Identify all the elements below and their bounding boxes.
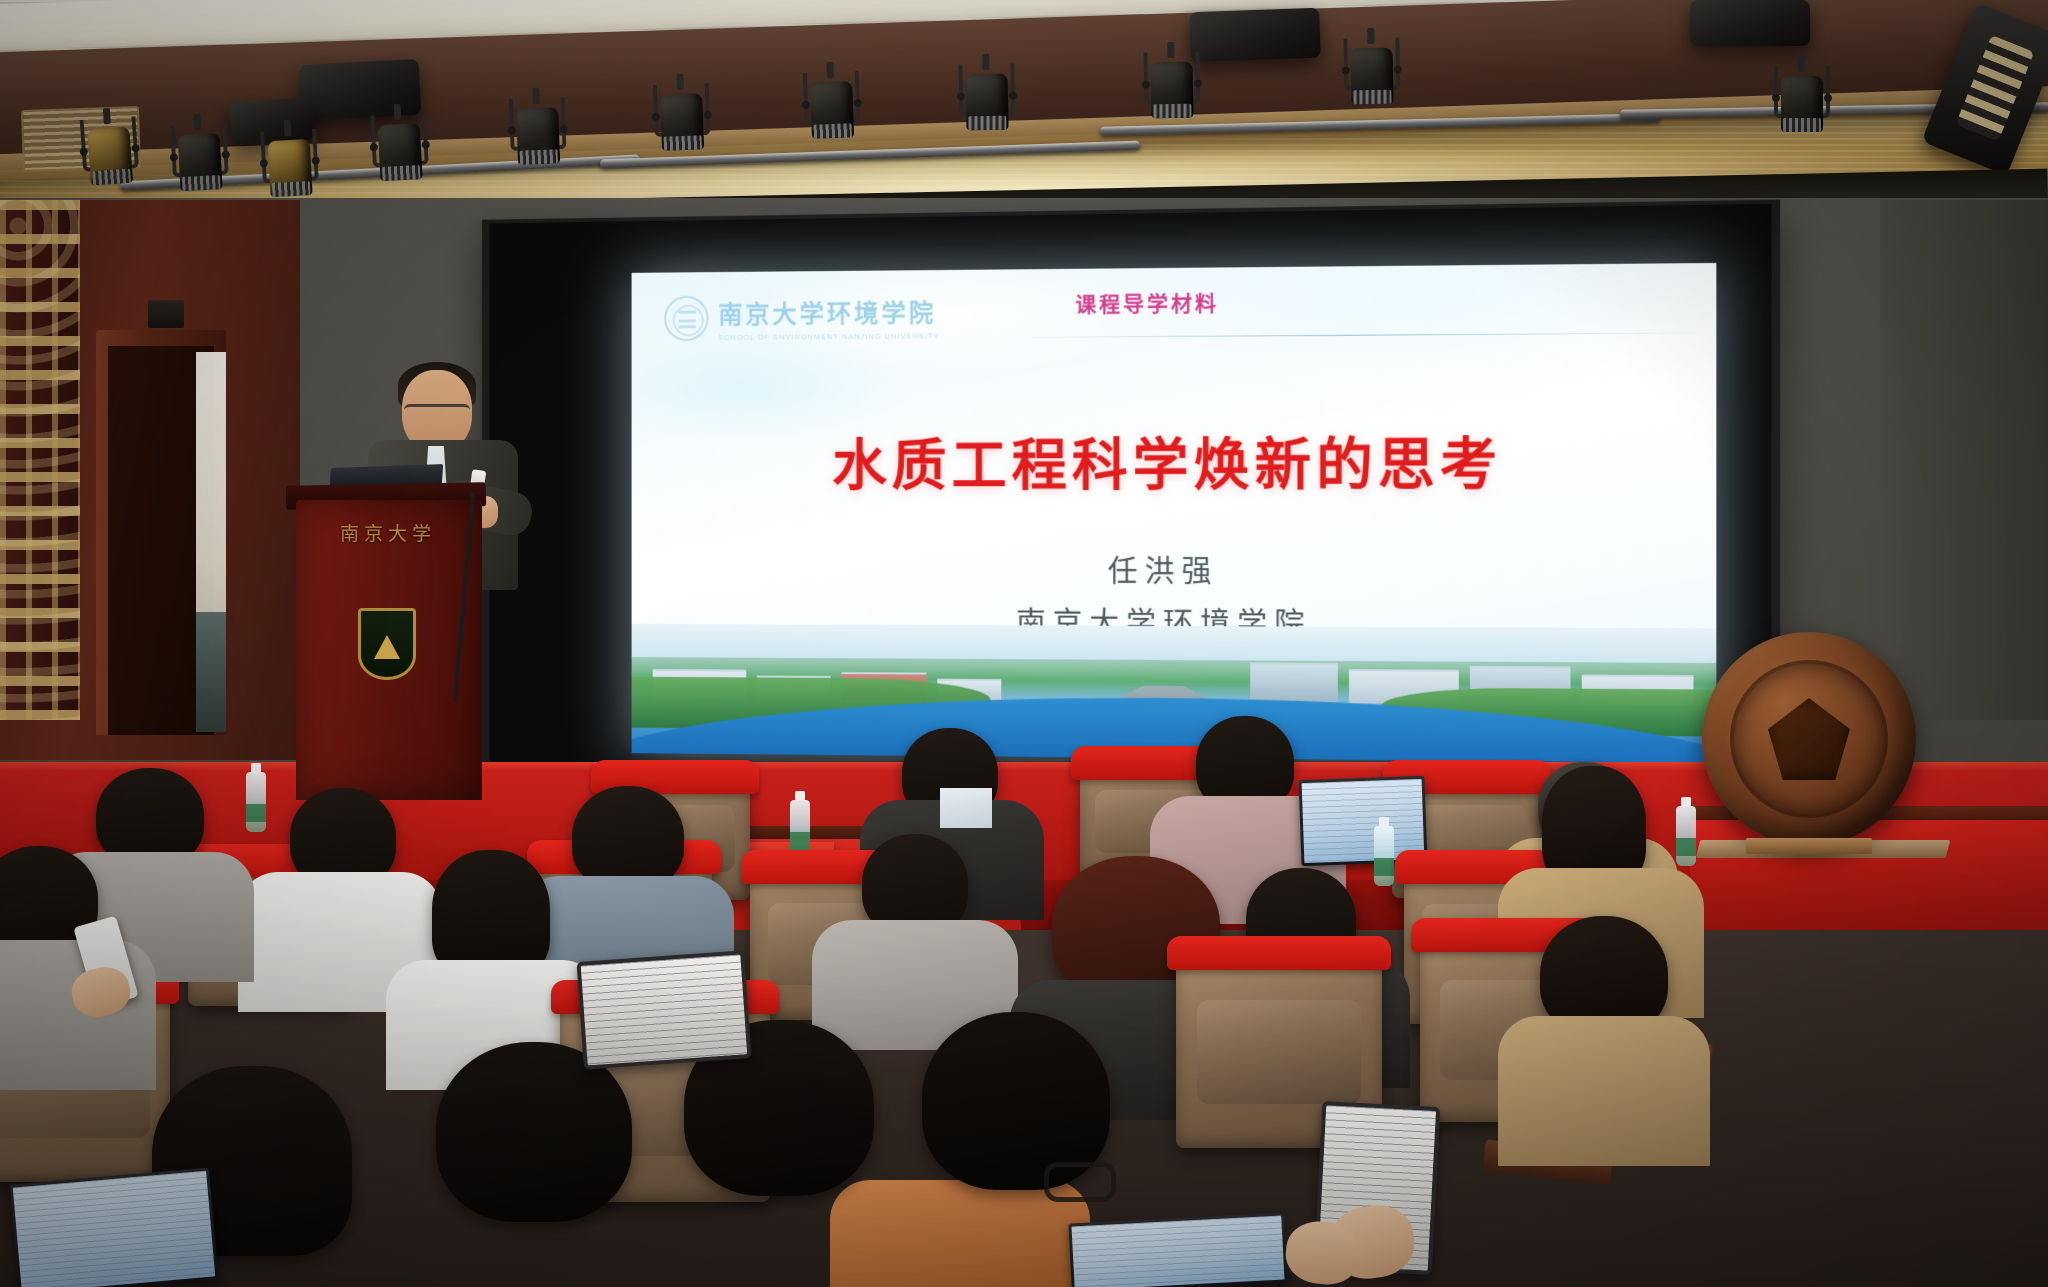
slide-kicker-text: 课程导学材料 — [1075, 288, 1219, 319]
door-opening-lower — [196, 612, 226, 732]
lecture-hall-photo: 南京大学环境学院 SCHOOL OF ENVIRONMENT NANJING U… — [0, 0, 2048, 1287]
audience-laptop[interactable] — [9, 1167, 218, 1287]
stage-light-1 — [75, 106, 145, 202]
audience-collar — [940, 788, 992, 828]
water-bottle — [1374, 826, 1394, 886]
audience-head — [436, 1042, 632, 1222]
stage-light-8 — [954, 53, 1020, 146]
audience-body — [1498, 1016, 1710, 1166]
logo-english-text: SCHOOL OF ENVIRONMENT NANJING UNIVERSITY — [718, 331, 939, 341]
logo-chinese-text: 南京大学环境学院 — [718, 293, 939, 330]
slide-campus-photo — [632, 624, 1717, 763]
stage-light-9 — [1139, 41, 1205, 134]
door-opening-light — [196, 352, 226, 652]
presentation-slide: 南京大学环境学院 SCHOOL OF ENVIRONMENT NANJING U… — [632, 263, 1717, 763]
slide-presenter-name: 任洪强 — [632, 545, 1717, 591]
stage-light-11 — [1770, 56, 1834, 148]
right-wall — [1880, 200, 2048, 720]
audience-tablet[interactable] — [576, 950, 751, 1069]
university-seal-icon — [664, 296, 708, 342]
audience-head — [432, 850, 550, 978]
podium-nameplate-text: 南京大学 — [300, 512, 476, 552]
wall-light-fixture — [148, 300, 184, 328]
speaker-glasses — [404, 404, 470, 416]
photo-building — [1250, 662, 1338, 703]
stage-light-6 — [648, 73, 715, 167]
stage-light-2 — [166, 112, 235, 207]
audience-body — [0, 940, 156, 1090]
audience-head — [572, 786, 684, 890]
medallion-stand — [1746, 838, 1872, 854]
stage-light-10 — [1339, 27, 1405, 120]
university-logo: 南京大学环境学院 SCHOOL OF ENVIRONMENT NANJING U… — [664, 286, 985, 350]
slide-title: 水质工程科学焕新的思考 — [632, 418, 1717, 501]
photo-sky — [632, 624, 1717, 663]
curtain-pattern-overlay — [0, 200, 80, 720]
audience-laptop[interactable] — [1068, 1212, 1287, 1287]
ceiling-projector-far-right — [1690, 0, 1810, 46]
stage-light-7 — [798, 61, 865, 155]
stage-light-4 — [366, 102, 435, 197]
water-bottle — [1676, 806, 1696, 866]
university-crest-icon — [358, 608, 416, 680]
stage-light-5 — [504, 87, 571, 181]
audience-glasses — [1044, 1162, 1116, 1202]
ceiling-projector-right — [1189, 8, 1321, 63]
water-bottle — [246, 772, 266, 832]
